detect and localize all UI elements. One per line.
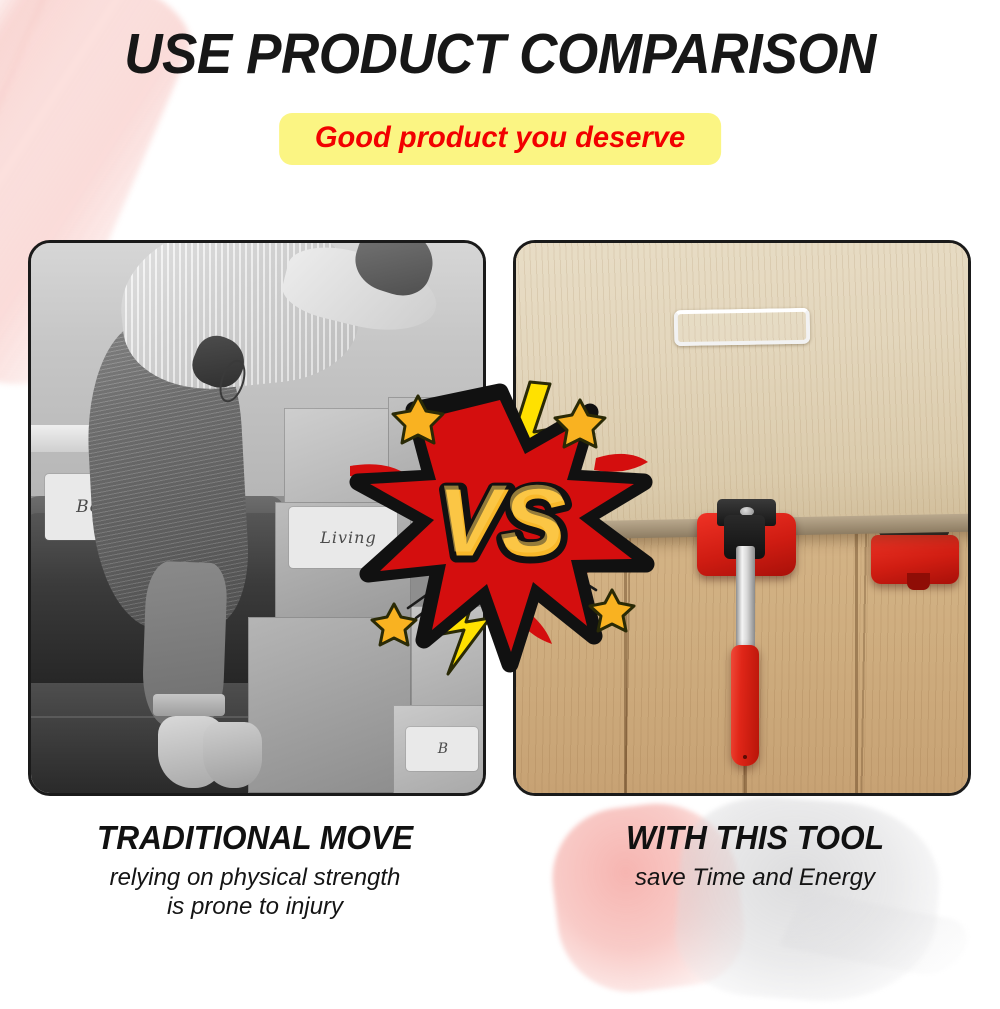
box-label-b: B [406,727,478,771]
caption-line-2: is prone to injury [20,892,490,922]
cardboard-box [248,617,411,793]
comparison-panel-traditional: Bedroom Living B [28,240,486,796]
box-label-living: Living [289,507,397,568]
caption-heading: WITH THIS TOOL [529,820,980,856]
comparison-panel-with-tool [513,240,971,796]
subtitle-text: Good product you deserve [315,122,685,154]
drawer-handle-icon [674,308,810,346]
subtitle-banner: Good product you deserve [279,113,721,165]
caption-line-1: save Time and Energy [520,863,990,893]
person-jeans-cuff [153,694,225,716]
caption-line-1: relying on physical strength [20,863,490,893]
photo-traditional-move: Bedroom Living B [31,243,483,793]
page-title: USE PRODUCT COMPARISON [35,26,965,83]
photo-with-this-tool [516,243,968,793]
roller-dolly-notch [907,573,930,590]
wooden-board [516,243,968,539]
person-foot [203,722,262,788]
caption-with-this-tool: WITH THIS TOOL save Time and Energy [520,820,990,892]
watermark-bottom-blade-ghost [779,890,977,979]
lifter-red-grip [731,645,759,766]
caption-traditional-move: TRADITIONAL MOVE relying on physical str… [20,820,490,922]
wood-floor-scene [516,243,968,793]
caption-heading: TRADITIONAL MOVE [29,820,480,856]
lifter-steel-rod [736,546,755,656]
grayscale-room-scene: Bedroom Living B [31,243,483,793]
